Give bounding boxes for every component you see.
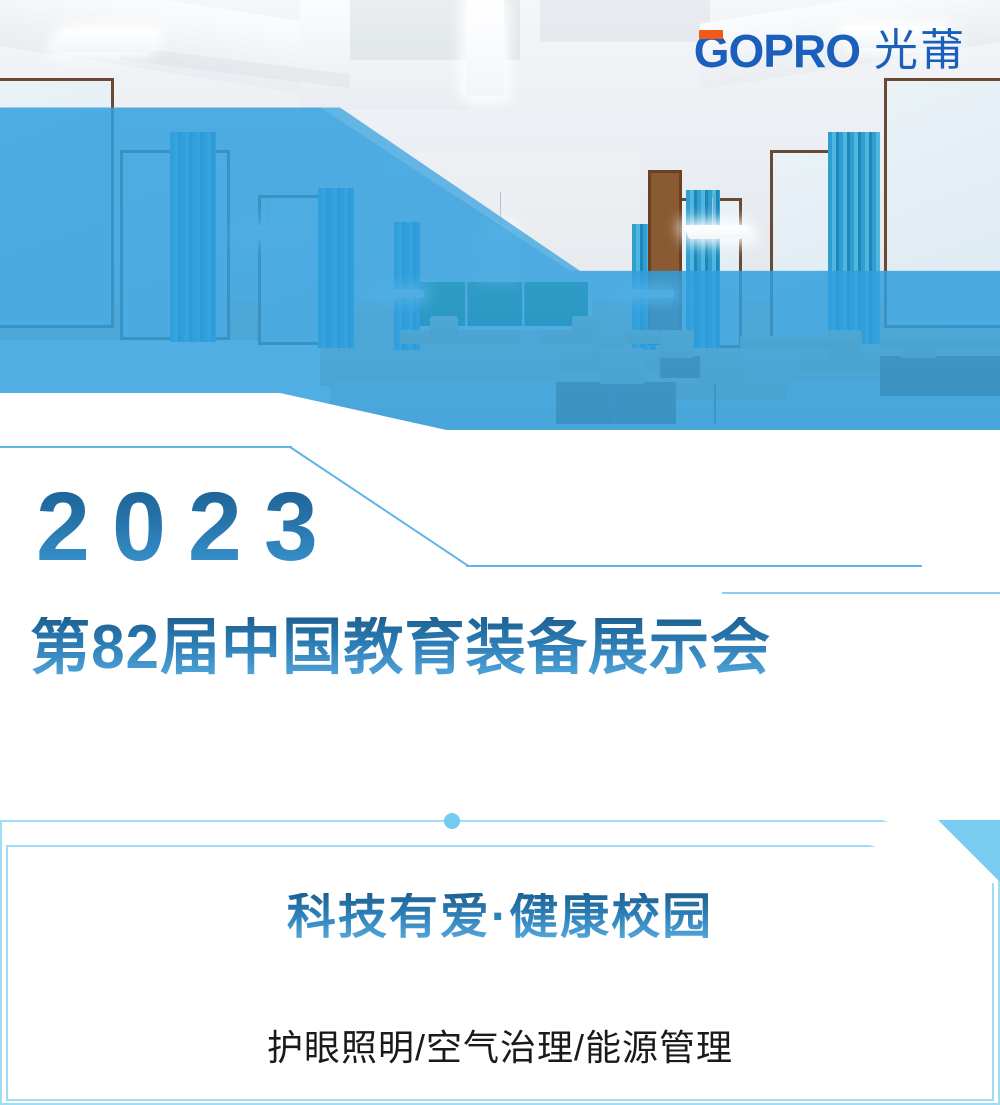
accent-line-lower-horizontal — [466, 565, 922, 567]
lamp-wire — [712, 198, 713, 228]
led-lamp — [466, 0, 504, 96]
event-title: 第82届中国教育装备展示会 — [30, 617, 771, 679]
slogan-text: 科技有爱·健康校园 — [0, 893, 1000, 942]
subline-text: 护眼照明/空气治理/能源管理 — [0, 1019, 1000, 1071]
year-heading: 2023 — [36, 478, 340, 575]
logo-chinese-name: 光莆 — [874, 29, 966, 73]
frame-dot-decoration — [444, 813, 460, 829]
brand-logo: GOPRO 光莆 — [694, 28, 966, 74]
ceiling-shadow — [540, 0, 710, 42]
poster-root: 2023 第82届中国教育装备展示会 科技有爱·健康校园 护眼照明/空气治理/能… — [0, 0, 1000, 1105]
accent-line-secondary — [722, 592, 1000, 594]
accent-line-upper-horizontal — [0, 446, 292, 448]
led-lamp — [53, 30, 160, 52]
logo-wordmark: GOPRO — [694, 28, 860, 74]
logo-orange-accent-icon — [699, 30, 723, 39]
led-lamp — [683, 225, 753, 239]
